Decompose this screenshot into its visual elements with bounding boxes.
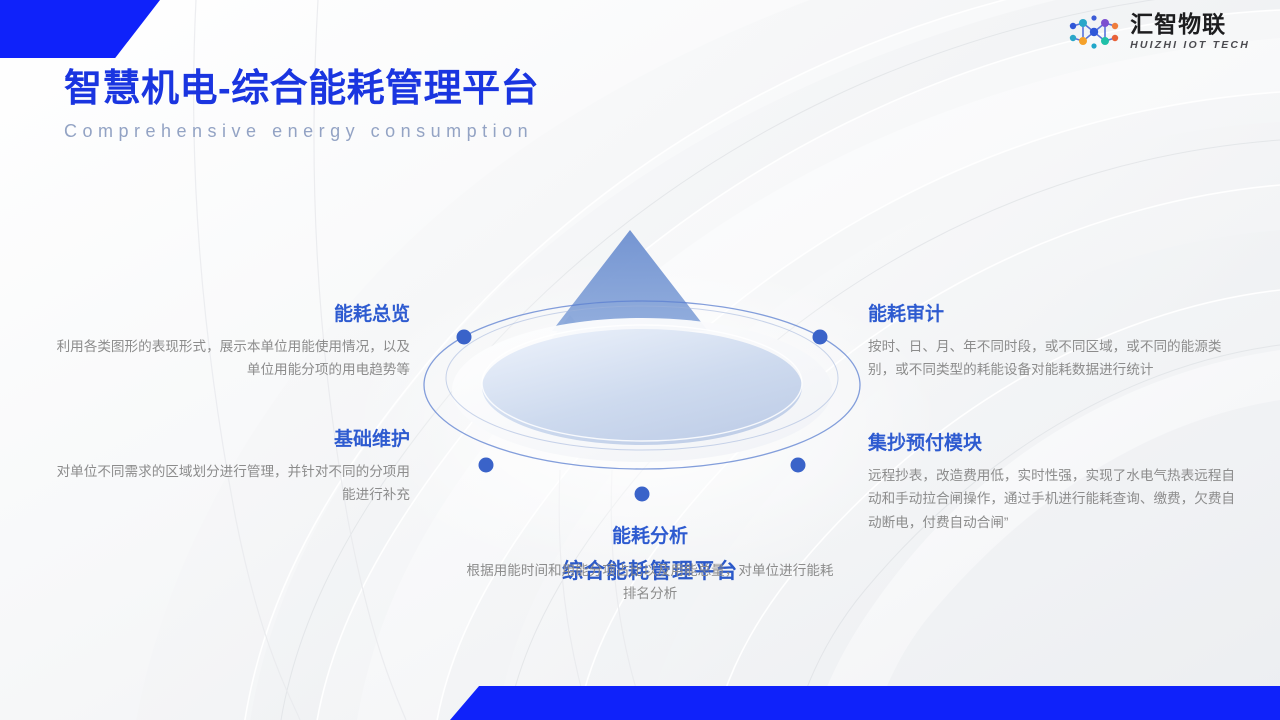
brand-logo-text: 汇智物联 HUIZHI IOT TECH (1130, 13, 1250, 51)
feature-body-audit: 按时、日、月、年不同时段，或不同区域，或不同的能源类别，或不同类型的耗能设备对能… (868, 335, 1236, 383)
feature-block-analysis: 能耗分析 根据用能时间和用能分项占比以及用能总量，对单位进行能耗排名分析 (460, 525, 840, 606)
feature-title-prepaid: 集抄预付模块 (868, 432, 1236, 457)
feature-block-prepaid: 集抄预付模块 远程抄表，改造费用低，实时性强，实现了水电气热表远程自动和手动拉合… (868, 432, 1236, 535)
molecule-network-icon (1067, 12, 1121, 52)
feature-block-audit: 能耗审计 按时、日、月、年不同时段，或不同区域，或不同的能源类别，或不同类型的耗… (868, 303, 1236, 382)
feature-title-analysis: 能耗分析 (460, 525, 840, 550)
feature-block-overview: 能耗总览 利用各类图形的表现形式，展示本单位用能使用情况，以及单位用能分项的用电… (55, 303, 410, 382)
page-subtitle: Comprehensive energy consumption (64, 121, 539, 142)
feature-title-maintenance: 基础维护 (55, 428, 410, 453)
feature-body-overview: 利用各类图形的表现形式，展示本单位用能使用情况，以及单位用能分项的用电趋势等 (55, 335, 410, 383)
center-graphic: 综合能耗管理平台 (420, 215, 880, 525)
page-title-block: 智慧机电-综合能耗管理平台 Comprehensive energy consu… (64, 68, 539, 142)
feature-body-prepaid: 远程抄表，改造费用低，实时性强，实现了水电气热表远程自动和手动拉合闸操作，通过手… (868, 464, 1236, 535)
brand-name-cn: 汇智物联 (1130, 13, 1250, 36)
brand-logo: 汇智物联 HUIZHI IOT TECH (1067, 12, 1250, 52)
feature-title-overview: 能耗总览 (55, 303, 410, 328)
feature-block-maintenance: 基础维护 对单位不同需求的区域划分进行管理，并针对不同的分项用能进行补充 (55, 428, 410, 507)
corner-accent-bottom (450, 686, 1280, 720)
page-title: 智慧机电-综合能耗管理平台 (64, 68, 539, 112)
feature-body-analysis: 根据用能时间和用能分项占比以及用能总量，对单位进行能耗排名分析 (460, 559, 840, 607)
brand-name-en: HUIZHI IOT TECH (1130, 40, 1250, 51)
feature-title-audit: 能耗审计 (868, 303, 1236, 328)
feature-body-maintenance: 对单位不同需求的区域划分进行管理，并针对不同的分项用能进行补充 (55, 460, 410, 508)
